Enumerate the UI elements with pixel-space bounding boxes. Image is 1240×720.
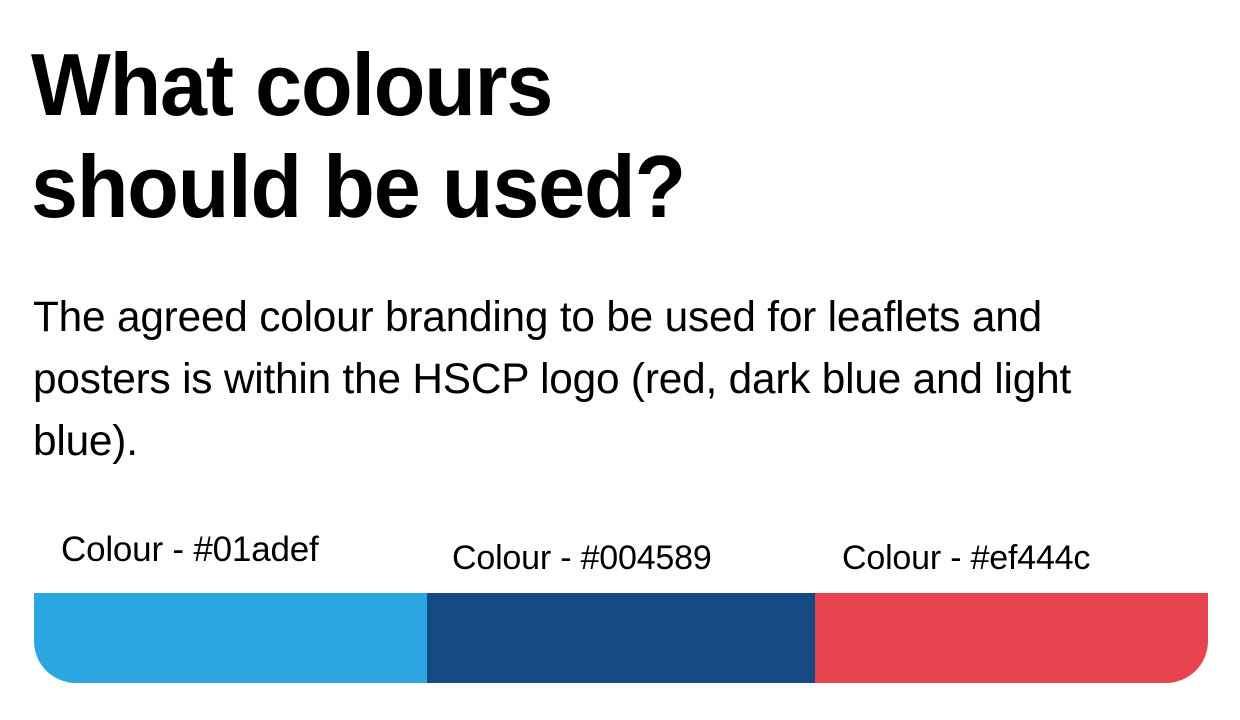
swatch-label-light-blue: Colour - #01adef: [61, 530, 319, 570]
colour-swatch-bar: [34, 593, 1208, 683]
colour-swatch-light-blue: [34, 593, 427, 683]
body-paragraph: The agreed colour branding to be used fo…: [33, 286, 1077, 472]
page-title: What colours should be used?: [31, 34, 991, 238]
colour-swatch-dark-blue: [427, 593, 815, 683]
swatch-label-red: Colour - #ef444c: [842, 539, 1090, 578]
colour-swatch-red: [815, 593, 1208, 683]
swatch-label-dark-blue: Colour - #004589: [452, 539, 712, 578]
slide-canvas: What colours should be used? The agreed …: [0, 0, 1240, 720]
swatch-label-row: Colour - #01adef Colour - #004589 Colour…: [34, 530, 1208, 590]
